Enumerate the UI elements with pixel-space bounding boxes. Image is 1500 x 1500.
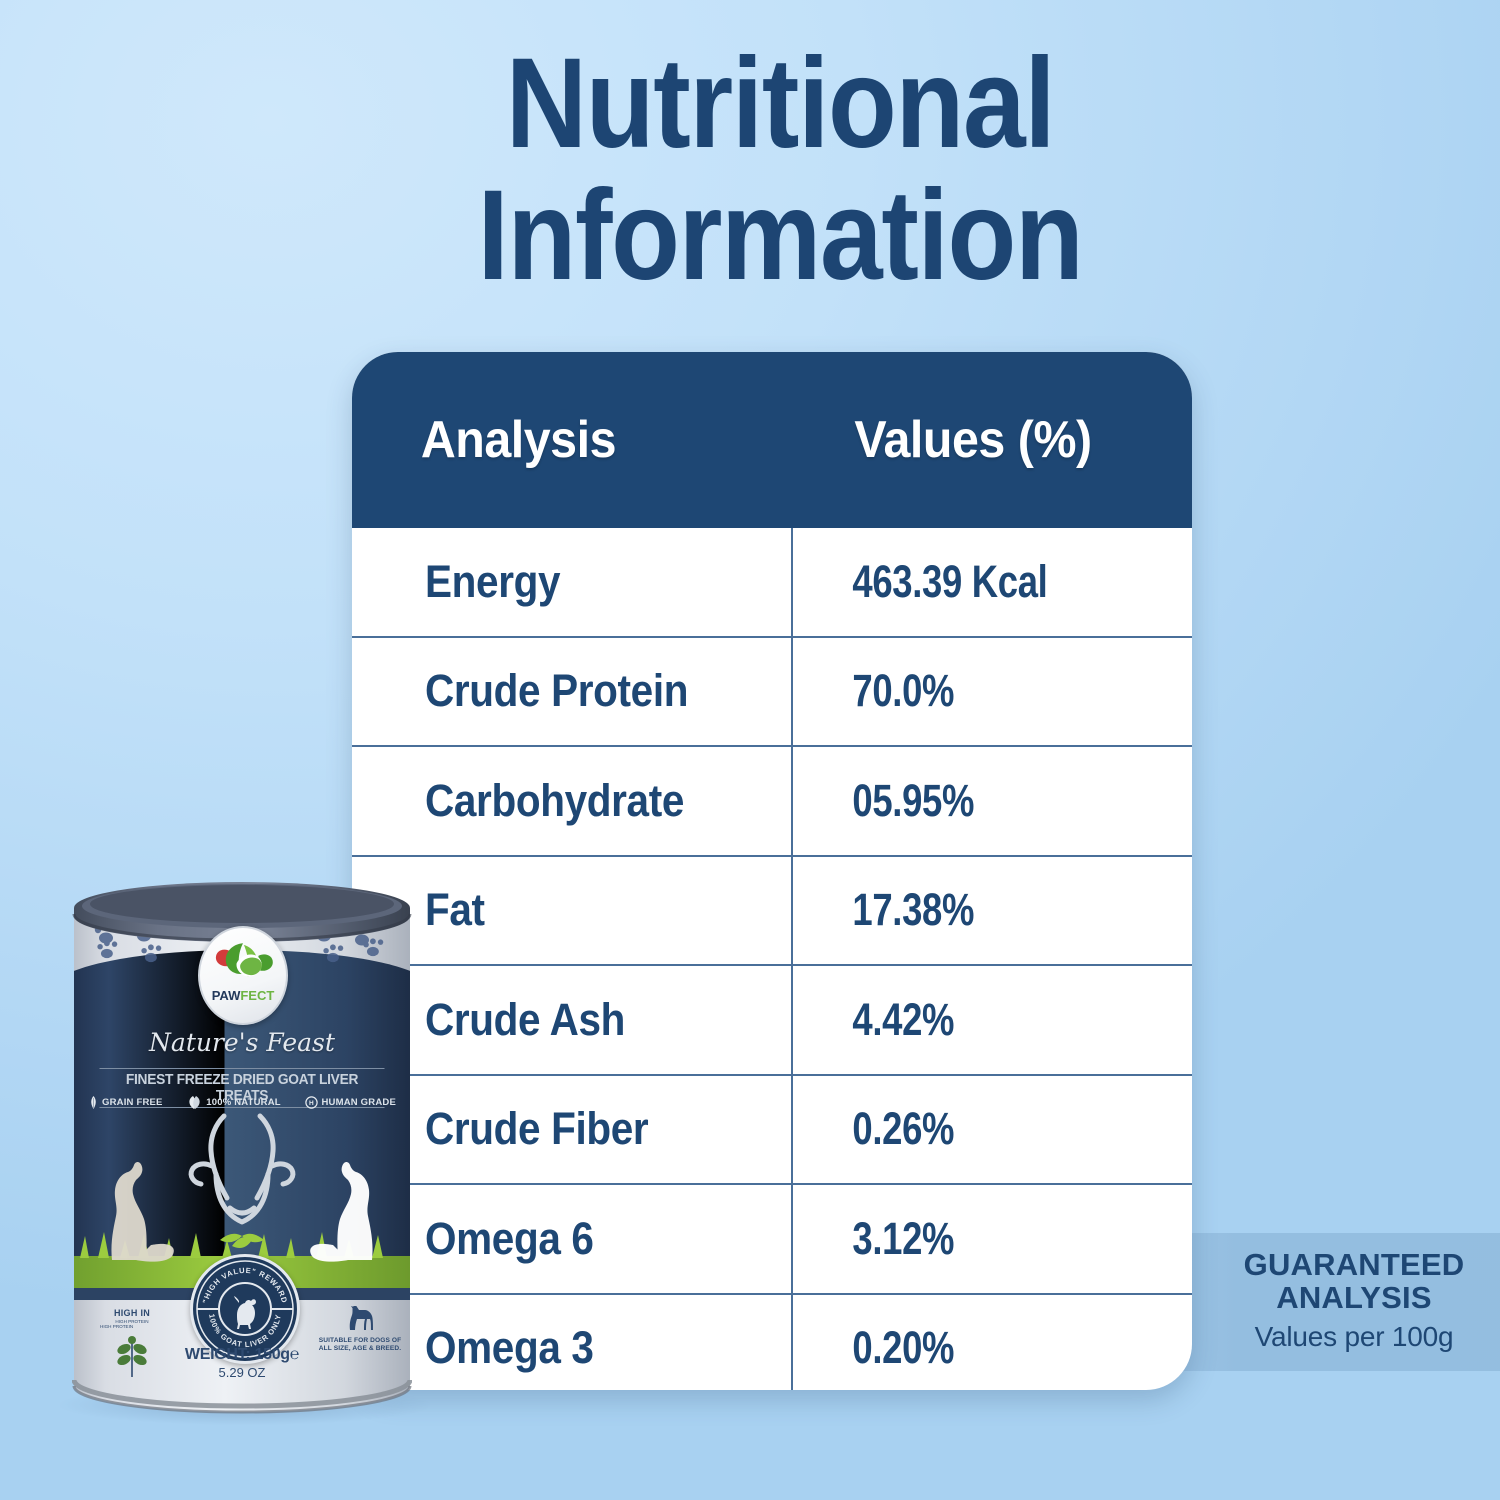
table-cell-analysis-text: Crude Ash bbox=[425, 994, 625, 1046]
table-cell-analysis: Energy bbox=[352, 528, 793, 636]
svg-text:H: H bbox=[310, 1100, 315, 1107]
table-row: Omega 63.12% bbox=[352, 1183, 1192, 1293]
table-cell-value-text: 463.39 Kcal bbox=[852, 556, 1047, 608]
table-cell-value-text: 70.0% bbox=[852, 665, 954, 717]
badge-grain-free: GRAIN FREE bbox=[88, 1096, 163, 1109]
table-cell-value: 3.12% bbox=[793, 1185, 1152, 1293]
high-in-title: HIGH IN bbox=[96, 1308, 168, 1318]
goat-silhouette-icon bbox=[234, 1296, 256, 1329]
guaranteed-analysis-line-3: Values per 100g bbox=[1214, 1321, 1494, 1353]
table-cell-analysis-text: Omega 3 bbox=[425, 1322, 594, 1374]
human-grade-icon: H bbox=[305, 1096, 318, 1109]
product-can: PAWFECT Nature's Feast FINEST FREEZE DRI… bbox=[72, 868, 412, 1424]
page-title: Nutritional Information bbox=[428, 38, 1132, 302]
badge-grain-free-label: GRAIN FREE bbox=[102, 1097, 163, 1108]
table-row: Crude Fiber0.26% bbox=[352, 1074, 1192, 1184]
pawfect-logo-badge: PAWFECT bbox=[198, 926, 288, 1025]
table-cell-value: 463.39 Kcal bbox=[793, 528, 1152, 636]
table-cell-analysis: Fat bbox=[352, 857, 793, 965]
table-row: Fat17.38% bbox=[352, 855, 1192, 965]
column-header-values: Values (%) bbox=[793, 410, 1164, 470]
weight-primary: WEIGHT: 150g℮ bbox=[162, 1346, 322, 1364]
table-cell-analysis-text: Carbohydrate bbox=[425, 775, 684, 827]
table-cell-analysis-text: Fat bbox=[425, 884, 485, 936]
pawfect-wordmark: PAWFECT bbox=[200, 988, 286, 1003]
badge-human-grade-label: HUMAN GRADE bbox=[321, 1097, 396, 1108]
guaranteed-analysis-label: GUARANTEED ANALYSIS Values per 100g bbox=[1214, 1248, 1494, 1353]
product-name: Nature's Feast bbox=[72, 1028, 412, 1057]
table-cell-analysis-text: Omega 6 bbox=[425, 1213, 594, 1265]
table-cell-analysis-text: Crude Protein bbox=[425, 665, 688, 717]
column-header-analysis: Analysis bbox=[352, 410, 762, 470]
suitable-for-line-1: SUITABLE FOR DOGS OF bbox=[318, 1337, 402, 1345]
table-cell-analysis: Crude Protein bbox=[352, 638, 793, 746]
table-cell-analysis-text: Energy bbox=[425, 556, 560, 608]
table-row: Omega 30.20% bbox=[352, 1293, 1192, 1391]
table-cell-analysis: Omega 3 bbox=[352, 1295, 793, 1391]
table-row: Energy463.39 Kcal bbox=[352, 528, 1192, 636]
table-cell-value: 0.26% bbox=[793, 1076, 1152, 1184]
table-cell-value-text: 3.12% bbox=[852, 1213, 954, 1265]
table-cell-value: 0.20% bbox=[793, 1295, 1152, 1391]
table-header-row: Analysis Values (%) bbox=[352, 352, 1192, 528]
table-cell-analysis: Carbohydrate bbox=[352, 747, 793, 855]
table-cell-analysis-text: Crude Fiber bbox=[425, 1103, 648, 1155]
table-cell-analysis: Crude Fiber bbox=[352, 1076, 793, 1184]
table-cell-value-text: 05.95% bbox=[852, 775, 974, 827]
page-title-line-1: Nutritional bbox=[428, 38, 1132, 170]
suitable-for-line-2: ALL SIZE, AGE & BREED. bbox=[318, 1345, 402, 1353]
table-cell-value-text: 0.20% bbox=[852, 1322, 954, 1374]
grain-icon bbox=[88, 1096, 99, 1109]
table-cell-value: 70.0% bbox=[793, 638, 1152, 746]
guaranteed-analysis-line-2: ANALYSIS bbox=[1214, 1281, 1494, 1314]
pawfect-leaf-dog-icon bbox=[200, 936, 286, 992]
badge-human-grade: H HUMAN GRADE bbox=[305, 1096, 396, 1109]
dog-icon bbox=[344, 1306, 376, 1332]
badge-natural-label: 100% NATURAL bbox=[206, 1097, 281, 1108]
table-cell-value: 4.42% bbox=[793, 966, 1152, 1074]
table-cell-value-text: 4.42% bbox=[852, 994, 954, 1046]
badge-natural: 100% NATURAL bbox=[187, 1096, 281, 1109]
weight-block: WEIGHT: 150g℮ 5.29 OZ bbox=[162, 1346, 322, 1380]
table-row: Crude Ash4.42% bbox=[352, 964, 1192, 1074]
weight-secondary: 5.29 OZ bbox=[162, 1365, 322, 1380]
sprout-icon bbox=[104, 1327, 160, 1377]
guaranteed-analysis-line-1: GUARANTEED bbox=[1214, 1248, 1494, 1281]
high-in-block: HIGH IN HIGH PROTEIN HIGH PROTEIN bbox=[96, 1308, 168, 1382]
table-cell-value: 05.95% bbox=[793, 747, 1152, 855]
table-cell-analysis: Omega 6 bbox=[352, 1185, 793, 1293]
table-row: Crude Protein70.0% bbox=[352, 636, 1192, 746]
table-cell-value: 17.38% bbox=[793, 857, 1152, 965]
table-cell-value-text: 17.38% bbox=[852, 884, 974, 936]
table-row: Carbohydrate05.95% bbox=[352, 745, 1192, 855]
page-title-line-2: Information bbox=[428, 170, 1132, 302]
table-cell-value-text: 0.26% bbox=[852, 1103, 954, 1155]
pawfect-word-paw: PAW bbox=[212, 988, 241, 1003]
leaf-icon bbox=[187, 1096, 203, 1109]
product-feature-badges: GRAIN FREE 100% NATURAL H HUMAN GRADE bbox=[88, 1096, 396, 1109]
table-cell-analysis: Crude Ash bbox=[352, 966, 793, 1074]
pawfect-word-fect: FECT bbox=[240, 988, 274, 1003]
table-body: Energy463.39 KcalCrude Protein70.0%Carbo… bbox=[352, 528, 1192, 1390]
nutrition-table-card: Analysis Values (%) Energy463.39 KcalCru… bbox=[352, 352, 1192, 1390]
suitable-for-block: SUITABLE FOR DOGS OF ALL SIZE, AGE & BRE… bbox=[318, 1306, 402, 1353]
